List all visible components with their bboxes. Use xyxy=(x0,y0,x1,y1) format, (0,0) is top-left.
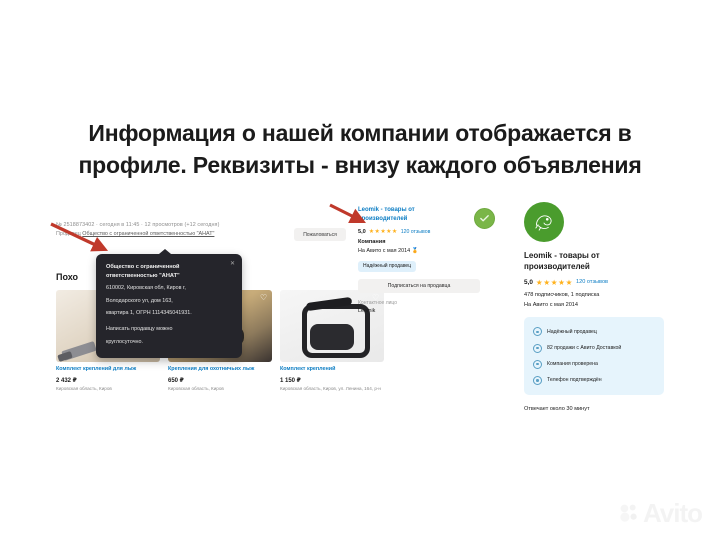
product-title[interactable]: Комплект креплений для лыж xyxy=(56,366,160,374)
verification-badges-list: Надёжный продавец 82 продажи с Авито Дос… xyxy=(524,317,664,396)
badge-row-delivery-sales: 82 продажи с Авито Доставкой xyxy=(524,340,664,356)
delivery-box-icon xyxy=(533,344,542,353)
tooltip-title-line2: ответственностью "АНАТ" xyxy=(106,272,232,281)
tooltip-address-line3: квартира 1, ОГРН 1114345041931. xyxy=(106,309,232,318)
product-price: 1 150 ₽ xyxy=(280,377,384,384)
product-title[interactable]: Крепления для охотничьих лыж xyxy=(168,366,272,374)
seller-info-block: Leomik - товары от производителей 5,0 ★★… xyxy=(358,206,480,314)
contact-person-label: Контактное лицо xyxy=(358,300,480,306)
product-price: 650 ₽ xyxy=(168,377,272,384)
product-address: Кировская область, Киров, ул. Ленина, 16… xyxy=(280,386,384,393)
badge-row-phone-confirmed: Телефон подтверждён xyxy=(524,372,664,388)
star-rating-icon: ★★★★★ xyxy=(369,228,398,235)
seller-rating-row: 5,0 ★★★★★ 120 отзывов xyxy=(358,228,480,235)
report-button[interactable]: Пожаловаться xyxy=(294,228,346,241)
badge-row-company-verified: Компания проверена xyxy=(524,356,664,372)
product-address: Кировская область, Киров xyxy=(56,386,160,393)
status-badge: Надёжный продавец xyxy=(358,261,416,272)
close-icon[interactable]: ✕ xyxy=(230,260,235,267)
badge-row-reliable-seller: Надёжный продавец xyxy=(524,324,664,340)
profile-reviews-link[interactable]: 120 отзывов xyxy=(576,279,608,285)
profile-rating-row: 5,0 ★★★★★ 120 отзывов xyxy=(524,278,664,287)
tooltip-note-line1: Написать продавцу можно xyxy=(106,325,232,334)
profile-subscribers: 478 подписчиков, 1 подписка xyxy=(524,292,664,298)
product-title[interactable]: Комплект креплений xyxy=(280,366,384,374)
profile-name-line2: производителей xyxy=(524,261,664,272)
profile-since: На Авито с мая 2014 xyxy=(524,302,664,308)
avito-watermark-text: Avito xyxy=(643,500,702,526)
phone-check-icon xyxy=(533,376,542,385)
check-circle-icon xyxy=(533,327,542,336)
tooltip-address-line1: 610002, Кировская обл, Киров г, xyxy=(106,284,232,293)
follow-seller-button[interactable]: Подписаться на продавца xyxy=(358,279,480,293)
annotation-arrow-left xyxy=(48,220,114,256)
tooltip-note-line2: круглосуточно. xyxy=(106,338,232,347)
seller-type: Компания xyxy=(358,239,480,245)
avatar xyxy=(524,202,564,242)
seller-since-text: На Авито с мая 2014 xyxy=(358,248,410,254)
star-rating-icon: ★★★★★ xyxy=(536,278,573,287)
similar-heading: Похо xyxy=(56,272,78,282)
page-title: Информация о нашей компании отображается… xyxy=(0,118,720,181)
seller-profile-card: Leomik - товары от производителей 5,0 ★★… xyxy=(524,202,664,412)
product-price: 2 432 ₽ xyxy=(56,377,160,384)
tooltip-address-line2: Володарского ул, дом 163, xyxy=(106,297,232,306)
product-address: Кировская область, Киров xyxy=(168,386,272,393)
profile-name-line1: Leomik - товары от xyxy=(524,250,664,261)
profile-rating-value: 5,0 xyxy=(524,279,533,286)
medal-icon: 🏅 xyxy=(412,248,419,254)
answer-time: Отвечает около 30 минут xyxy=(524,406,664,412)
seller-name-line1[interactable]: Leomik - товары от xyxy=(358,206,480,215)
tooltip-title-line1: Общество с ограниченной xyxy=(106,263,232,272)
company-details-tooltip: ✕ Общество с ограниченной ответственност… xyxy=(96,254,242,358)
seller-name-line2[interactable]: производителей xyxy=(358,215,480,224)
badge-label: Компания проверена xyxy=(547,361,598,367)
seller-since: На Авито с мая 2014 🏅 xyxy=(358,248,480,254)
annotation-arrow-right xyxy=(328,202,372,228)
verified-check-icon xyxy=(474,208,495,229)
avito-watermark: Avito xyxy=(618,500,702,526)
badge-label: Надёжный продавец xyxy=(547,329,597,335)
favorite-icon[interactable]: ♡ xyxy=(260,294,268,302)
seller-reviews-link[interactable]: 120 отзывов xyxy=(401,229,431,235)
avito-dots-icon xyxy=(618,502,640,524)
badge-label: 82 продажи с Авито Доставкой xyxy=(547,345,621,351)
badge-label: Телефон подтверждён xyxy=(547,377,602,383)
seller-rating-value: 5,0 xyxy=(358,229,366,235)
check-circle-icon xyxy=(533,360,542,369)
embedded-screenshot: № 2518873402 · сегодня в 11:45 · 12 прос… xyxy=(48,198,676,508)
contact-person-name: Leomik xyxy=(358,308,480,314)
